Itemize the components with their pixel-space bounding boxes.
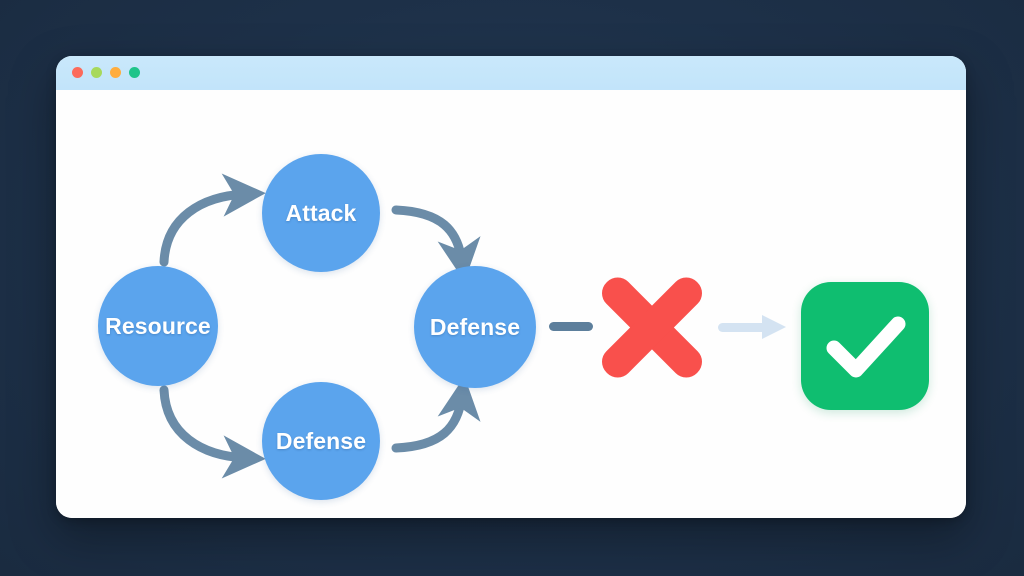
close-dot[interactable] xyxy=(72,67,83,78)
diagram-canvas: Resource Attack Defense Defense xyxy=(56,90,966,518)
node-attack-label: Attack xyxy=(286,200,357,227)
window-title-bar[interactable] xyxy=(56,56,966,90)
node-defense-bottom[interactable]: Defense xyxy=(262,382,380,500)
cross-icon xyxy=(578,253,726,401)
window-controls[interactable] xyxy=(72,67,140,78)
node-defense-bottom-label: Defense xyxy=(276,428,366,455)
check-icon xyxy=(801,282,929,410)
screenshot-stage: Resource Attack Defense Defense xyxy=(0,0,1024,576)
node-attack[interactable]: Attack xyxy=(262,154,380,272)
node-defense-center-label: Defense xyxy=(430,314,520,341)
arrow-right-shaft xyxy=(718,323,768,332)
node-defense-center[interactable]: Defense xyxy=(414,266,536,388)
node-resource-label: Resource xyxy=(105,313,211,340)
browser-window: Resource Attack Defense Defense xyxy=(56,56,966,518)
edge-defense-bottom-to-defense xyxy=(396,396,462,448)
minimize-dot[interactable] xyxy=(91,67,102,78)
arrow-right-head xyxy=(762,315,786,339)
extra-dot[interactable] xyxy=(129,67,140,78)
edge-attack-to-defense xyxy=(396,210,462,262)
check-badge[interactable] xyxy=(801,282,929,410)
node-resource[interactable]: Resource xyxy=(98,266,218,386)
arrow-right-icon xyxy=(718,315,788,339)
edge-resource-to-attack xyxy=(164,194,246,262)
maximize-dot[interactable] xyxy=(110,67,121,78)
edge-resource-to-defense-bottom xyxy=(164,390,246,458)
